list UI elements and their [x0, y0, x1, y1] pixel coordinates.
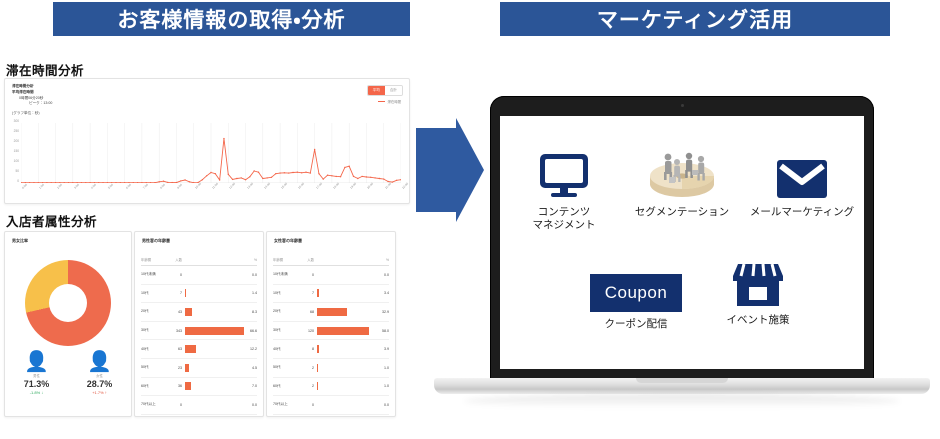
- female-figure-icon: 👤: [68, 352, 131, 372]
- male-age-table: 年齢層人数%10代未満00.010代71.420代438.330代34366.6…: [141, 254, 257, 415]
- gender-legend: 👤 男性 71.3% -1.8% ↓ 👤 女性 28.7% +1.7% ↑: [5, 352, 131, 395]
- bar-fill: [317, 327, 369, 335]
- percent-value: 0.0: [376, 273, 389, 277]
- count-value: 0: [167, 403, 185, 407]
- percent-value: 1.0: [376, 366, 389, 370]
- bar-fill: [185, 289, 186, 297]
- x-tick-label: 4:00: [90, 183, 97, 190]
- chart-y-axis: 050100150200250300: [7, 121, 19, 183]
- chart-x-axis: 0:001:002:003:004:005:006:007:008:009:00…: [21, 185, 401, 199]
- bar-cell: [317, 271, 376, 279]
- table-row: 30代12058.0: [273, 322, 389, 341]
- percent-value: 1.0: [376, 384, 389, 388]
- gender-legend-male: 👤 男性 71.3% -1.8% ↓: [5, 352, 68, 395]
- age-label: 40代: [273, 347, 299, 352]
- tile-coupon-label: クーポン配信: [578, 318, 694, 331]
- count-value: 2: [299, 366, 317, 370]
- count-value: 0: [167, 273, 185, 277]
- section-header-marketing-label: マーケティング活用: [597, 4, 793, 34]
- chart-unit-note: (グラフ単位：秒): [12, 111, 52, 116]
- laptop-mockup: コンテンツ マネジメント: [434, 96, 930, 398]
- female-age-card: 女性客の年齢層 年齢層人数%10代未満00.010代73.420代6832.93…: [266, 231, 396, 417]
- y-tick-label: 250: [14, 129, 19, 133]
- bar-cell: [317, 327, 376, 335]
- tile-mail-marketing-label: メールマーケティング: [740, 206, 864, 219]
- monitor-icon: [508, 144, 620, 200]
- bar-cell: [185, 271, 244, 279]
- bar-fill: [317, 382, 318, 390]
- age-label: 60代: [273, 384, 299, 389]
- age-label: 70代以上: [141, 402, 167, 407]
- female-percent: 28.7%: [68, 379, 131, 389]
- envelope-icon: [740, 144, 864, 200]
- table-row: 20代438.3: [141, 303, 257, 322]
- y-tick-label: 150: [14, 149, 19, 153]
- bar-cell: [317, 289, 376, 297]
- percent-value: 0.0: [244, 403, 257, 407]
- count-value: 68: [299, 310, 317, 314]
- percent-value: 66.6: [244, 329, 257, 333]
- legend-label: 滞在時間: [387, 99, 401, 104]
- female-age-header-row: 年齢層人数%: [273, 254, 389, 266]
- male-age-card: 男性客の年齢層 年齢層人数%10代未満00.010代71.420代438.330…: [134, 231, 264, 417]
- laptop-bezel: [490, 96, 874, 116]
- slide-canvas: お客様情報の取得・分析 マーケティング活用 滞在時間分析 滞在時間分析 平均滞在…: [0, 0, 940, 439]
- bar-fill: [317, 308, 347, 316]
- tile-event[interactable]: イベント施策: [700, 252, 816, 327]
- x-tick-label: 9:00: [176, 183, 183, 190]
- count-value: 36: [167, 384, 185, 388]
- x-tick-label: 2:00: [56, 183, 63, 190]
- table-row: 10代73.4: [273, 285, 389, 304]
- y-tick-label: 200: [14, 139, 19, 143]
- table-row: 70代以上00.0: [273, 396, 389, 415]
- male-percent: 71.3%: [5, 379, 68, 389]
- table-row: 30代34366.6: [141, 322, 257, 341]
- x-tick-label: 0:00: [21, 183, 28, 190]
- percent-value: 0.0: [376, 403, 389, 407]
- table-row: 70代以上00.0: [141, 396, 257, 415]
- male-delta: -1.8% ↓: [5, 390, 68, 395]
- count-value: 0: [299, 273, 317, 277]
- female-age-col-2: [317, 256, 376, 264]
- percent-value: 0.0: [244, 273, 257, 277]
- male-age-col-3: %: [244, 258, 257, 262]
- chart-plot-area: [21, 123, 401, 183]
- x-tick-label: 7:00: [142, 183, 149, 190]
- age-label: 30代: [141, 328, 167, 333]
- tile-coupon[interactable]: Coupon クーポン配信: [578, 256, 694, 331]
- count-value: 7: [167, 291, 185, 295]
- tile-event-label: イベント施策: [700, 314, 816, 327]
- percent-value: 32.9: [376, 310, 389, 314]
- coupon-icon-text: Coupon: [605, 283, 668, 303]
- count-value: 43: [167, 310, 185, 314]
- chart-mode-toggle[interactable]: 平均 合計: [367, 85, 403, 96]
- age-label: 20代: [141, 309, 167, 314]
- count-value: 0: [299, 403, 317, 407]
- bar-cell: [185, 364, 244, 372]
- age-label: 10代未満: [273, 272, 299, 277]
- male-age-title: 男性客の年齢層: [142, 238, 170, 244]
- storefront-icon: [700, 252, 816, 308]
- x-tick-label: 8:00: [159, 183, 166, 190]
- x-tick-label: 6:00: [125, 183, 132, 190]
- age-label: 30代: [273, 328, 299, 333]
- bar-cell: [317, 345, 376, 353]
- bar-fill: [317, 289, 319, 297]
- table-row: 40代6312.2: [141, 340, 257, 359]
- chart-legend: 滞在時間: [378, 99, 401, 104]
- bar-cell: [317, 382, 376, 390]
- table-row: 60代367.0: [141, 378, 257, 397]
- bar-fill: [185, 327, 244, 335]
- age-label: 50代: [141, 365, 167, 370]
- age-label: 20代: [273, 309, 299, 314]
- table-row: 10代未満00.0: [141, 266, 257, 285]
- tile-segmentation[interactable]: セグメンテーション: [616, 144, 748, 219]
- percent-value: 58.0: [376, 329, 389, 333]
- percent-value: 3.9: [376, 347, 389, 351]
- bar-fill: [317, 345, 319, 353]
- bar-cell: [185, 327, 244, 335]
- count-value: 7: [299, 291, 317, 295]
- table-row: 50代234.5: [141, 359, 257, 378]
- count-value: 23: [167, 366, 185, 370]
- female-delta: +1.7% ↑: [68, 390, 131, 395]
- x-tick-label: 5:00: [107, 183, 114, 190]
- count-value: 8: [299, 347, 317, 351]
- y-tick-label: 50: [15, 169, 19, 173]
- bar-fill: [317, 364, 318, 372]
- female-caption: 女性: [68, 373, 131, 378]
- count-value: 343: [167, 329, 185, 333]
- x-tick-label: 11:00: [211, 182, 219, 190]
- table-row: 10代未満00.0: [273, 266, 389, 285]
- chart-title: 滞在時間分析: [12, 84, 52, 89]
- x-tick-label: 1:00: [38, 183, 45, 190]
- bar-cell: [317, 308, 376, 316]
- male-age-col-2: [185, 256, 244, 264]
- section-header-marketing: マーケティング活用: [500, 2, 890, 36]
- laptop-shadow: [464, 394, 900, 408]
- laptop-lid: コンテンツ マネジメント: [490, 96, 874, 382]
- gender-ratio-title: 男女比率: [12, 238, 28, 244]
- bar-cell: [185, 401, 244, 409]
- gender-donut-chart: [25, 260, 111, 346]
- percent-value: 1.4: [244, 291, 257, 295]
- bar-fill: [185, 308, 192, 316]
- male-age-header-row: 年齢層人数%: [141, 254, 257, 266]
- tile-content-management-label: コンテンツ マネジメント: [508, 206, 620, 232]
- x-tick-label: 22:00: [401, 182, 409, 190]
- percent-value: 12.2: [244, 347, 257, 351]
- bar-fill: [185, 345, 196, 353]
- line-chart-svg: [21, 123, 401, 183]
- laptop-screen: コンテンツ マネジメント: [500, 116, 864, 369]
- female-age-title: 女性客の年齢層: [274, 238, 302, 244]
- count-value: 2: [299, 384, 317, 388]
- age-label: 60代: [141, 384, 167, 389]
- gender-legend-female: 👤 女性 28.7% +1.7% ↑: [68, 352, 131, 395]
- stay-time-chart-card: 滞在時間分析 平均滞在時間 0時間06分20秒 ピーク：13:00 (グラフ単位…: [4, 78, 410, 204]
- marketing-icon-grid: コンテンツ マネジメント: [500, 116, 864, 369]
- attributes-section-title: 入店者属性分析: [6, 211, 97, 230]
- percent-value: 3.4: [376, 291, 389, 295]
- bar-cell: [185, 308, 244, 316]
- table-row: 20代6832.9: [273, 303, 389, 322]
- age-label: 50代: [273, 365, 299, 370]
- table-row: 10代71.4: [141, 285, 257, 304]
- male-age-col-1: 人数: [167, 257, 185, 262]
- stay-time-section-title: 滞在時間分析: [6, 60, 84, 79]
- laptop-notch: [636, 378, 728, 383]
- y-tick-label: 100: [14, 159, 19, 163]
- age-label: 10代未満: [141, 272, 167, 277]
- count-value: 63: [167, 347, 185, 351]
- section-header-analysis: お客様情報の取得・分析: [53, 2, 410, 36]
- webcam-icon: [681, 104, 684, 107]
- tile-segmentation-label: セグメンテーション: [616, 206, 748, 219]
- tile-content-management[interactable]: コンテンツ マネジメント: [508, 144, 620, 232]
- bar-fill: [185, 364, 189, 372]
- bar-cell: [317, 364, 376, 372]
- table-row: 40代83.9: [273, 340, 389, 359]
- chart-peak-value: ピーク：13:00: [29, 101, 52, 106]
- table-row: 60代21.0: [273, 378, 389, 397]
- toggle-average[interactable]: 平均: [368, 86, 385, 95]
- female-age-col-1: 人数: [299, 257, 317, 262]
- percent-value: 7.0: [244, 384, 257, 388]
- female-age-col-0: 年齢層: [273, 257, 299, 262]
- bar-cell: [317, 401, 376, 409]
- male-caption: 男性: [5, 373, 68, 378]
- age-label: 10代: [141, 291, 167, 296]
- percent-value: 8.3: [244, 310, 257, 314]
- x-tick-label: 3:00: [73, 183, 80, 190]
- tile-mail-marketing[interactable]: メールマーケティング: [740, 144, 864, 219]
- female-age-col-3: %: [376, 258, 389, 262]
- bar-fill: [185, 382, 191, 390]
- y-tick-label: 300: [14, 119, 19, 123]
- percent-value: 4.5: [244, 366, 257, 370]
- bar-cell: [185, 382, 244, 390]
- stay-time-chart-header: 滞在時間分析 平均滞在時間 0時間06分20秒 ピーク：13:00 (グラフ単位…: [12, 84, 52, 116]
- table-row: 50代21.0: [273, 359, 389, 378]
- section-header-analysis-label: お客様情報の取得・分析: [117, 4, 345, 34]
- count-value: 120: [299, 329, 317, 333]
- legend-swatch-icon: [378, 101, 385, 103]
- age-label: 40代: [141, 347, 167, 352]
- female-age-table: 年齢層人数%10代未満00.010代73.420代6832.930代12058.…: [273, 254, 389, 415]
- age-label: 70代以上: [273, 402, 299, 407]
- male-age-col-0: 年齢層: [141, 257, 167, 262]
- toggle-total[interactable]: 合計: [385, 86, 402, 95]
- male-figure-icon: 👤: [5, 352, 68, 372]
- age-label: 10代: [273, 291, 299, 296]
- bar-cell: [185, 289, 244, 297]
- segmentation-icon: [616, 144, 748, 200]
- y-tick-label: 0: [17, 179, 19, 183]
- coupon-icon: Coupon: [578, 256, 694, 312]
- donut-ring: [25, 260, 111, 346]
- bar-cell: [185, 345, 244, 353]
- gender-ratio-card: 男女比率 👤 男性 71.3% -1.8% ↓ 👤 女性 28.7% +1.7%…: [4, 231, 132, 417]
